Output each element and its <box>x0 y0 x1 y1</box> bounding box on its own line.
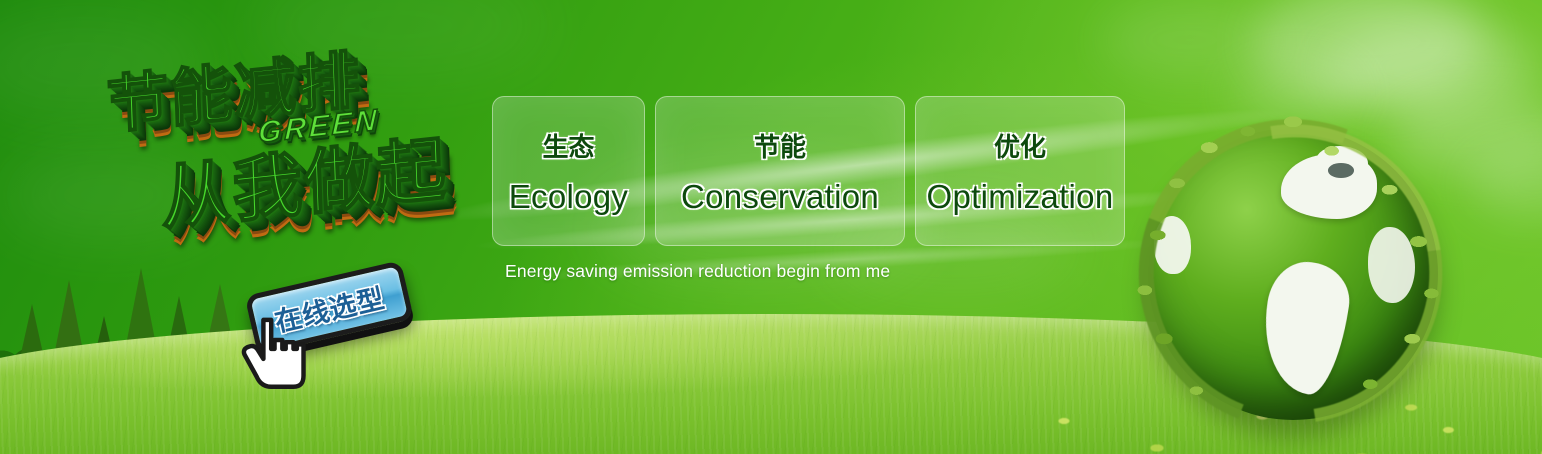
feature-box-ecology-cn: 生态 <box>542 127 594 164</box>
pointing-hand-cursor-icon <box>236 315 308 393</box>
feature-box-conservation[interactable]: 节能 Conservation <box>655 96 905 246</box>
feature-box-optimization[interactable]: 优化 Optimization <box>915 96 1125 246</box>
feature-box-optimization-cn: 优化 <box>994 127 1046 164</box>
feature-box-conservation-en: Conservation <box>681 178 879 216</box>
feature-box-conservation-cn: 节能 <box>754 127 806 164</box>
headline-3d-text: 节能减排 GREEN 从我做起 <box>98 36 498 266</box>
feature-box-ecology[interactable]: 生态 Ecology <box>492 96 645 246</box>
eco-promo-banner: 节能减排 GREEN 从我做起 在线选型 生态 Ecology 节能 Conse… <box>0 0 1542 454</box>
feature-box-optimization-en: Optimization <box>926 178 1113 216</box>
tagline: Energy saving emission reduction begin f… <box>505 261 890 282</box>
feature-box-group: 生态 Ecology 节能 Conservation 优化 Optimizati… <box>492 96 1125 246</box>
feature-box-ecology-en: Ecology <box>509 178 629 216</box>
green-leaf-globe-icon <box>1148 128 1438 420</box>
